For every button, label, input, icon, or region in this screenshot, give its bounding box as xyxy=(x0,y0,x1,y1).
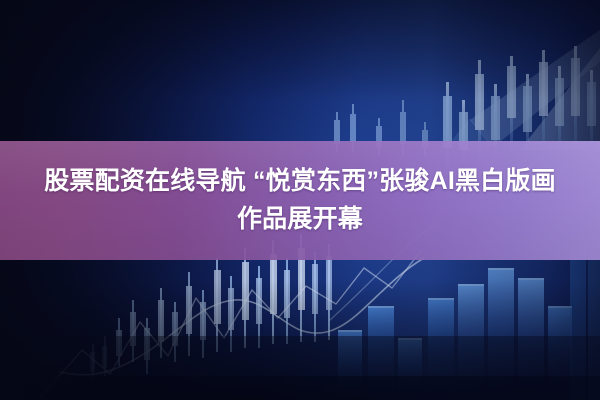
stock-news-banner: 股票配资在线导航 “悦赏东西”张骏AI黑白版画 作品展开幕 xyxy=(0,0,600,400)
headline-line-2: 作品展开幕 xyxy=(237,202,363,238)
headline-line-1: 股票配资在线导航 “悦赏东西”张骏AI黑白版画 xyxy=(44,164,556,200)
headline-text-block: 股票配资在线导航 “悦赏东西”张骏AI黑白版画 作品展开幕 xyxy=(0,141,600,260)
